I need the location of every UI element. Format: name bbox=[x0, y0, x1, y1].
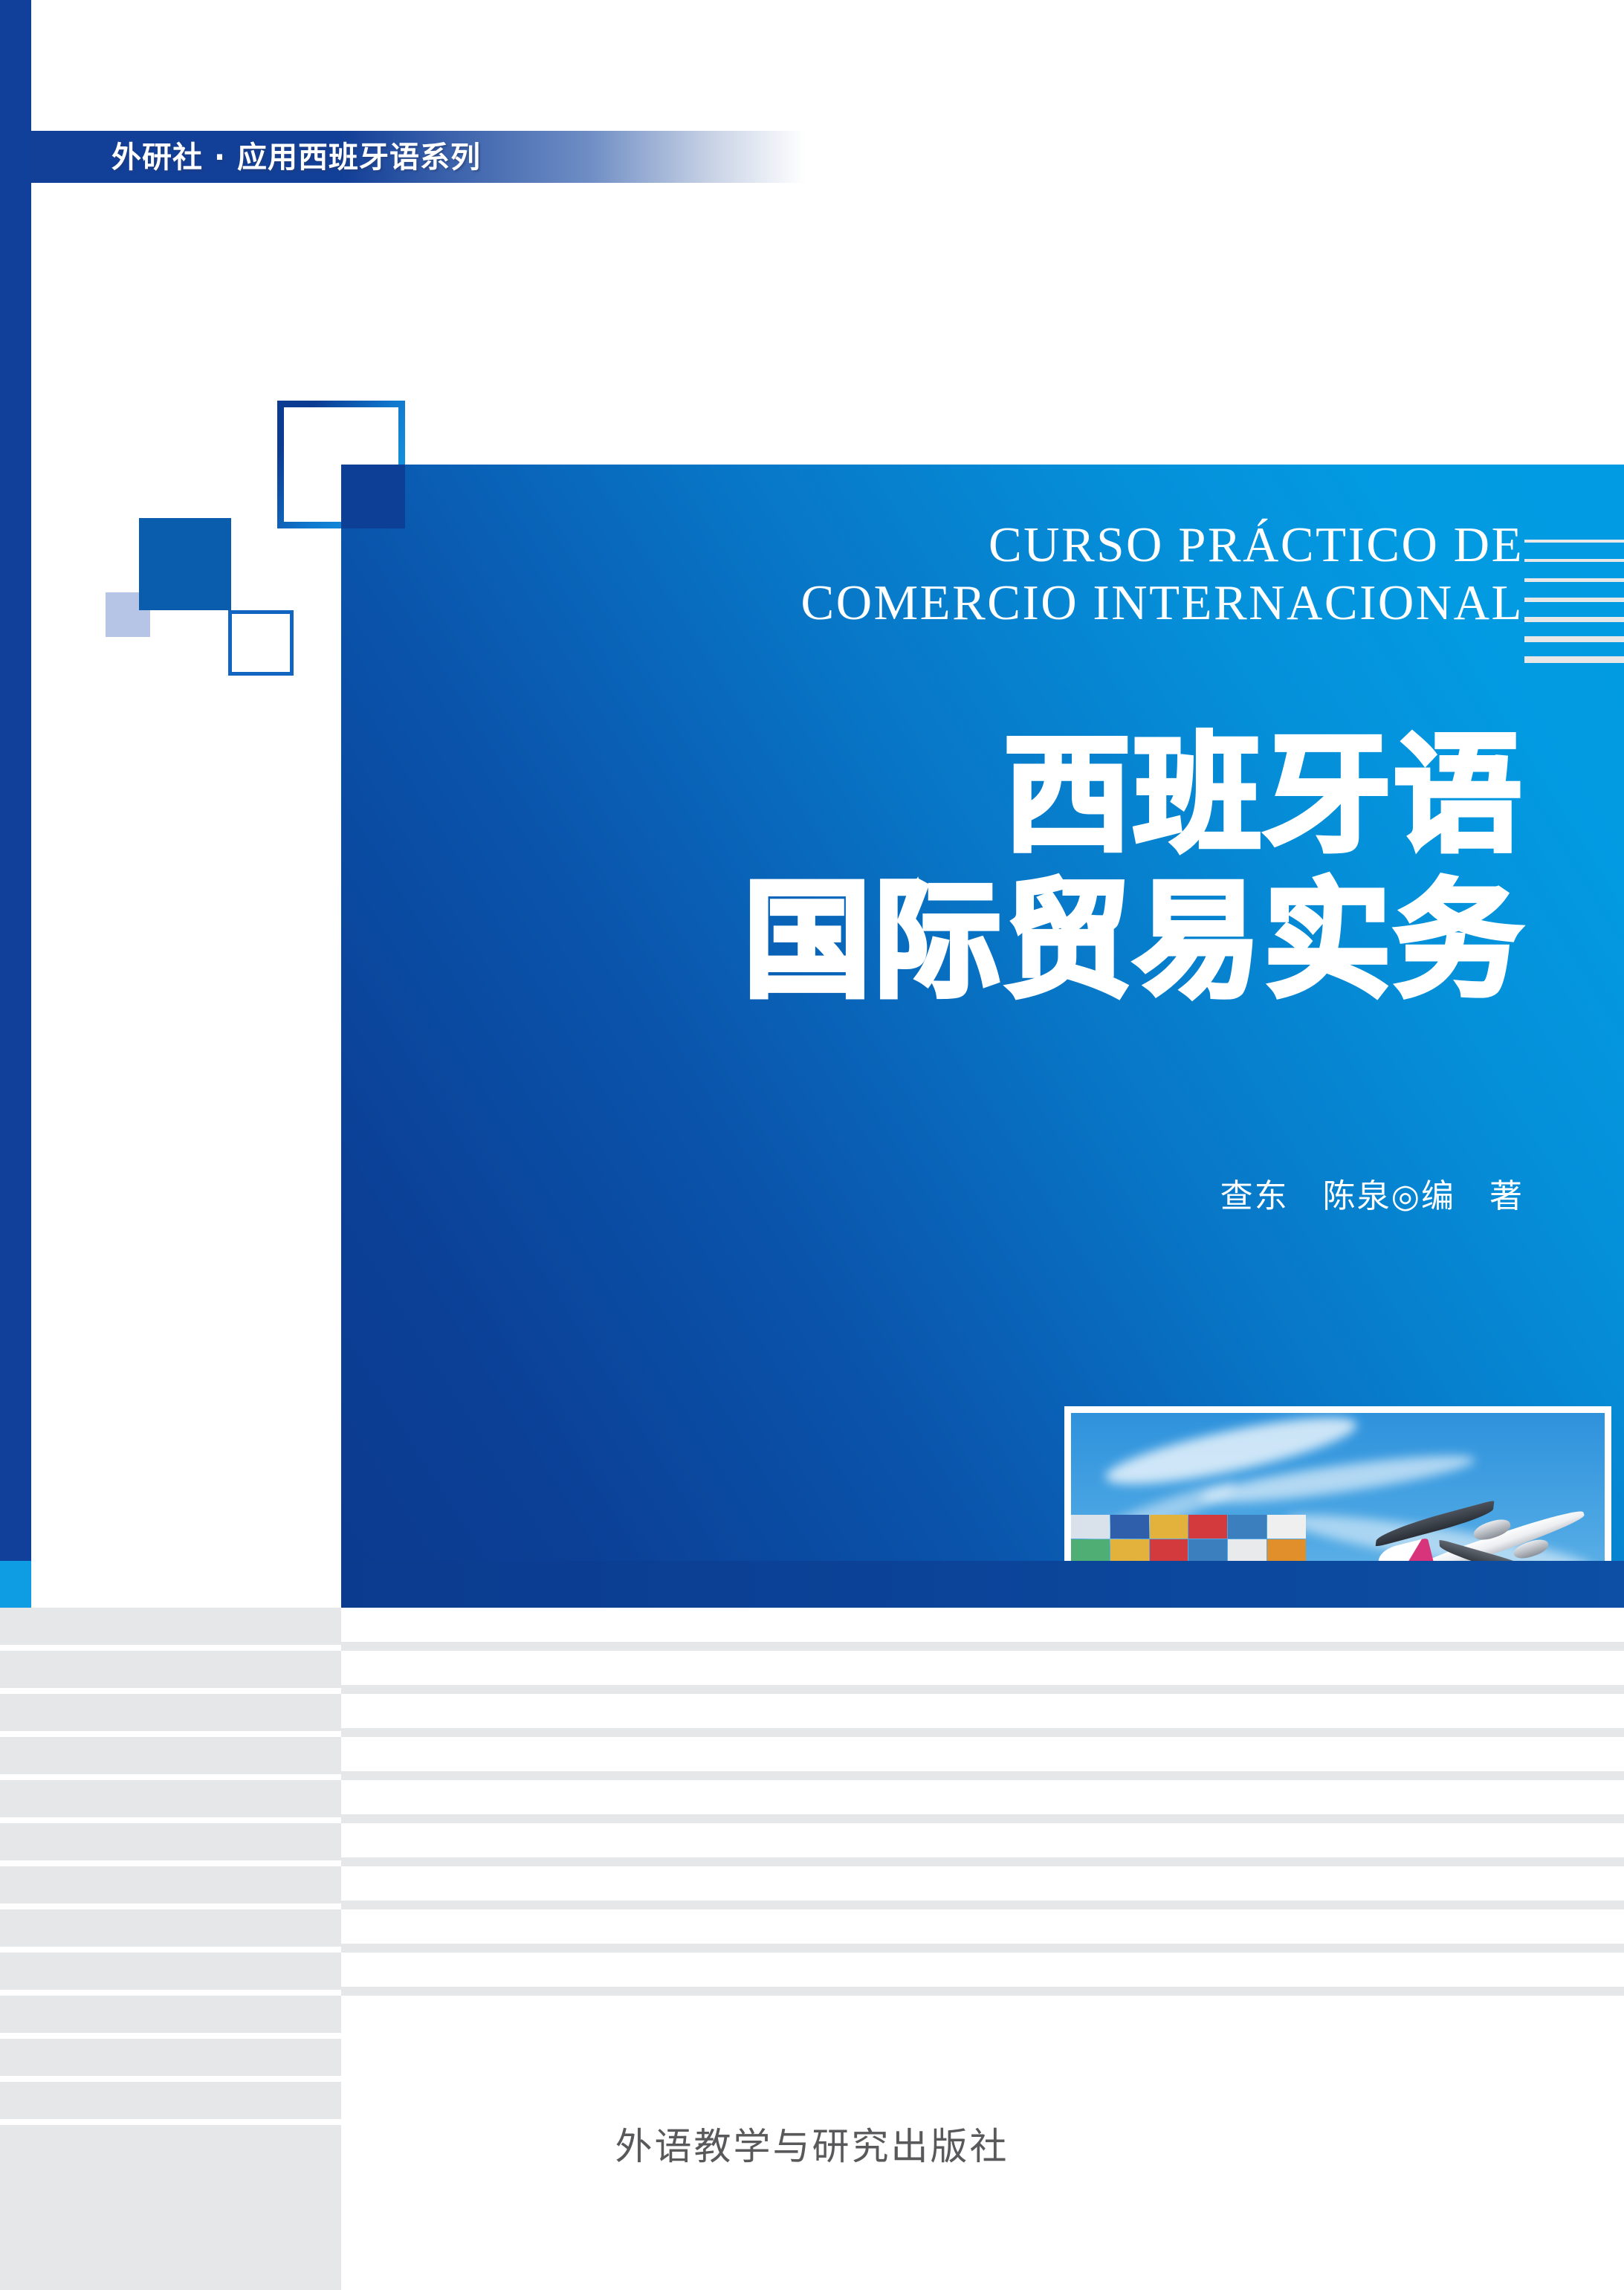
spanish-title-line-2: COMERCIO INTERNACIONAL bbox=[386, 578, 1524, 627]
book-cover: 外研社 · 应用西班牙语系列 CURSO PRÁCTICO DE COMERCI… bbox=[0, 0, 1624, 2290]
author-line: 查东 陈泉◎编 著 bbox=[743, 1169, 1524, 1217]
shipping-container bbox=[1267, 1515, 1306, 1539]
decorative-line-4 bbox=[1524, 598, 1624, 602]
series-label: 外研社 · 应用西班牙语系列 bbox=[111, 135, 481, 181]
airplane-wing-upper bbox=[1376, 1500, 1495, 1547]
chinese-title-line-1: 西班牙语 bbox=[357, 722, 1524, 868]
bottom-stripes-left bbox=[0, 1608, 341, 2160]
decorative-line-2 bbox=[1524, 559, 1624, 562]
left-accent-bar bbox=[0, 0, 31, 1608]
cyan-accent-chip bbox=[0, 1561, 31, 1608]
decorative-lines bbox=[1524, 540, 1624, 678]
decorative-line-3 bbox=[1524, 578, 1624, 582]
decorative-square-outline-blue bbox=[228, 610, 294, 676]
decorative-line-6 bbox=[1524, 636, 1624, 642]
spanish-title-line-1: CURSO PRÁCTICO DE bbox=[386, 520, 1524, 569]
shipping-container bbox=[1110, 1539, 1149, 1563]
navy-bottom-strip bbox=[341, 1561, 1624, 1608]
shipping-container bbox=[1150, 1539, 1188, 1563]
panel-corner-notch bbox=[341, 465, 405, 528]
bottom-solid-block-left bbox=[0, 2160, 341, 2290]
shipping-container bbox=[1228, 1515, 1266, 1539]
decorative-line-1 bbox=[1524, 540, 1624, 543]
shipping-container bbox=[1150, 1515, 1188, 1539]
shipping-container bbox=[1188, 1539, 1227, 1563]
shipping-container bbox=[1267, 1539, 1306, 1563]
shipping-container bbox=[1110, 1515, 1149, 1539]
spanish-title: CURSO PRÁCTICO DE COMERCIO INTERNACIONAL bbox=[386, 520, 1524, 627]
decorative-line-5 bbox=[1524, 617, 1624, 622]
chinese-title: 西班牙语 国际贸易实务 bbox=[357, 722, 1524, 1014]
shipping-container bbox=[1188, 1515, 1227, 1539]
shipping-container bbox=[1071, 1515, 1110, 1539]
bottom-stripes-right bbox=[341, 1608, 1624, 2011]
chinese-title-line-2: 国际贸易实务 bbox=[357, 868, 1524, 1014]
shipping-container bbox=[1228, 1539, 1266, 1563]
publisher-name: 外语教学与研究出版社 bbox=[0, 2117, 1624, 2170]
shipping-container bbox=[1071, 1539, 1110, 1563]
decorative-line-7 bbox=[1524, 656, 1624, 663]
decorative-square-solid-blue bbox=[139, 518, 231, 610]
